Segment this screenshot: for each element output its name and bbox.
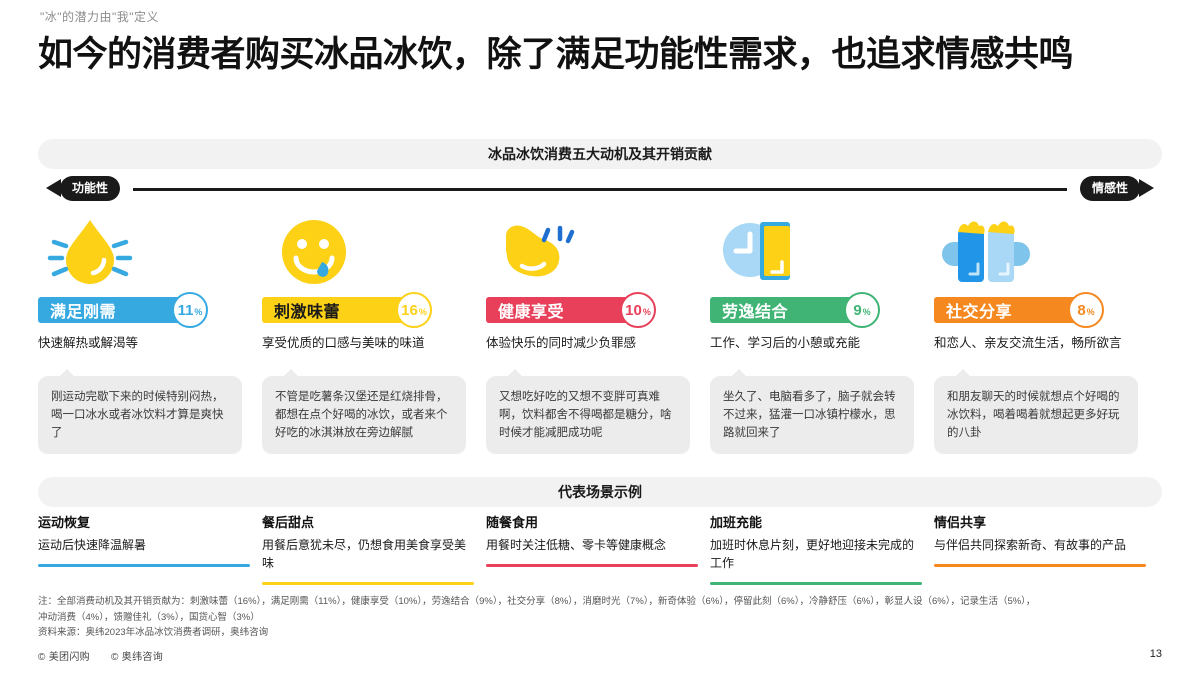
footnote-line-2: 冲动消费（4%），馈赠佳礼（3%），国货心智（3%） xyxy=(38,610,1168,626)
scene-desc-5: 与伴侣共同探索新奇、有故事的产品 xyxy=(934,536,1146,554)
motive-percent-sign-1: % xyxy=(194,295,202,329)
motive-percent-num-5: 8 xyxy=(1077,294,1085,328)
scene-rule-2 xyxy=(262,582,474,585)
clock-can-icon xyxy=(710,208,922,286)
eyebrow-text: "冰"的潜力由"我"定义 xyxy=(40,8,159,25)
motive-quote-4: 坐久了、电脑看多了，脑子就会转不过来，猛灌一口冰镇柠檬水，思路就回来了 xyxy=(710,376,914,454)
spectrum-right-arrow-icon xyxy=(1139,179,1154,197)
scene-rule-3 xyxy=(486,564,698,567)
motive-column-3: 健康享受 10% 体验快乐的同时减少负罪感 又想吃好吃的又想不变胖可真难啊，饮料… xyxy=(486,208,698,352)
motive-bar-row-2: 刺激味蕾 16% xyxy=(262,292,474,326)
footnote-line-1: 注：全部消费动机及其开销贡献为：刺激味蕾（16%），满足刚需（11%），健康享受… xyxy=(38,594,1168,610)
scene-item-4: 加班充能 加班时休息片刻，更好地迎接未完成的工作 xyxy=(710,512,922,585)
motive-desc-2: 享受优质的口感与美味的味道 xyxy=(262,334,474,352)
motive-percent-num-1: 11 xyxy=(178,294,194,328)
spectrum-label-functional: 功能性 xyxy=(60,176,120,201)
motive-bar-row-5: 社交分享 8% xyxy=(934,292,1146,326)
scene-rule-4 xyxy=(710,582,922,585)
slide-root: "冰"的潜力由"我"定义 如今的消费者购买冰品冰饮，除了满足功能性需求，也追求情… xyxy=(0,0,1200,675)
copyright: © 美团闪购 © 奥纬咨询 xyxy=(38,648,181,663)
motive-bar-row-4: 劳逸结合 9% xyxy=(710,292,922,326)
motive-percent-1: 11% xyxy=(172,292,208,328)
scene-item-1: 运动恢复 运动后快速降温解暑 xyxy=(38,512,250,585)
motive-column-4: 劳逸结合 9% 工作、学习后的小憩或充能 坐久了、电脑看多了，脑子就会转不过来，… xyxy=(710,208,922,352)
motive-percent-3: 10% xyxy=(620,292,656,328)
page-number: 13 xyxy=(1150,648,1162,660)
motive-percent-sign-4: % xyxy=(863,295,871,329)
spectrum-left-arrow-icon xyxy=(46,179,61,197)
footnotes: 注：全部消费动机及其开销贡献为：刺激味蕾（16%），满足刚需（11%），健康享受… xyxy=(38,594,1168,641)
page-title: 如今的消费者购买冰品冰饮，除了满足功能性需求，也追求情感共鸣 xyxy=(38,26,1073,77)
scene-desc-2: 用餐后意犹未尽，仍想食用美食享受美味 xyxy=(262,536,474,572)
spectrum-line xyxy=(133,188,1067,191)
motive-desc-4: 工作、学习后的小憩或充能 xyxy=(710,334,922,352)
smiley-taste-icon xyxy=(262,208,474,286)
motive-desc-1: 快速解热或解渴等 xyxy=(38,334,250,352)
copyright-meituan: © 美团闪购 xyxy=(38,652,90,663)
water-drop-icon xyxy=(38,208,250,286)
motive-desc-3: 体验快乐的同时减少负罪感 xyxy=(486,334,698,352)
motive-percent-num-3: 10 xyxy=(625,294,642,328)
motive-quote-3: 又想吃好吃的又想不变胖可真难啊，饮料都舍不得喝都是糖分，啥时候才能减肥成功呢 xyxy=(486,376,690,454)
beer-mugs-icon xyxy=(934,208,1146,286)
motive-column-1: 满足刚需 11% 快速解热或解渴等 刚运动完歇下来的时候特别闷热，喝一口冰水或者… xyxy=(38,208,250,352)
motive-percent-sign-5: % xyxy=(1087,295,1095,329)
scene-desc-4: 加班时休息片刻，更好地迎接未完成的工作 xyxy=(710,536,922,572)
motive-percent-sign-3: % xyxy=(643,295,651,329)
motive-percent-2: 16% xyxy=(396,292,432,328)
motive-percent-num-4: 9 xyxy=(853,294,861,328)
motive-quote-1: 刚运动完歇下来的时候特别闷热，喝一口冰水或者冰饮料才算是爽快了 xyxy=(38,376,242,454)
scene-title-3: 随餐食用 xyxy=(486,512,698,531)
scene-desc-1: 运动后快速降温解暑 xyxy=(38,536,250,554)
scene-item-5: 情侣共享 与伴侣共同探索新奇、有故事的产品 xyxy=(934,512,1146,585)
motive-percent-4: 9% xyxy=(844,292,880,328)
motive-desc-5: 和恋人、亲友交流生活，畅所欲言 xyxy=(934,334,1146,352)
spectrum-axis: 功能性 情感性 xyxy=(38,176,1162,202)
spectrum-label-emotional: 情感性 xyxy=(1080,176,1140,201)
scene-title-1: 运动恢复 xyxy=(38,512,250,531)
scene-rule-5 xyxy=(934,564,1146,567)
scene-section-title: 代表场景示例 xyxy=(38,477,1162,507)
footnote-line-3: 资料来源：奥纬2023年冰品冰饮消费者调研，奥纬咨询 xyxy=(38,625,1168,641)
motive-section-title: 冰品冰饮消费五大动机及其开销贡献 xyxy=(38,139,1162,169)
scene-desc-3: 用餐时关注低糖、零卡等健康概念 xyxy=(486,536,698,554)
scene-item-3: 随餐食用 用餐时关注低糖、零卡等健康概念 xyxy=(486,512,698,585)
scene-columns: 运动恢复 运动后快速降温解暑 餐后甜点 用餐后意犹未尽，仍想食用美食享受美味 随… xyxy=(38,512,1162,585)
muscle-arm-icon xyxy=(486,208,698,286)
motive-quote-5: 和朋友聊天的时候就想点个好喝的冰饮料，喝着喝着就想起更多好玩的八卦 xyxy=(934,376,1138,454)
motive-column-5: 社交分享 8% 和恋人、亲友交流生活，畅所欲言 和朋友聊天的时候就想点个好喝的冰… xyxy=(934,208,1146,352)
scene-rule-1 xyxy=(38,564,250,567)
copyright-oliverwyman: © 奥纬咨询 xyxy=(111,652,163,663)
scene-title-5: 情侣共享 xyxy=(934,512,1146,531)
motive-bar-row-1: 满足刚需 11% xyxy=(38,292,250,326)
motive-percent-5: 8% xyxy=(1068,292,1104,328)
scene-title-4: 加班充能 xyxy=(710,512,922,531)
motive-quote-2: 不管是吃薯条汉堡还是红烧排骨，都想在点个好喝的冰饮，或者来个好吃的冰淇淋放在旁边… xyxy=(262,376,466,454)
scene-item-2: 餐后甜点 用餐后意犹未尽，仍想食用美食享受美味 xyxy=(262,512,474,585)
motive-bar-row-3: 健康享受 10% xyxy=(486,292,698,326)
motive-column-2: 刺激味蕾 16% 享受优质的口感与美味的味道 不管是吃薯条汉堡还是红烧排骨，都想… xyxy=(262,208,474,352)
scene-title-2: 餐后甜点 xyxy=(262,512,474,531)
motive-columns: 满足刚需 11% 快速解热或解渴等 刚运动完歇下来的时候特别闷热，喝一口冰水或者… xyxy=(38,208,1162,352)
motive-percent-sign-2: % xyxy=(419,295,427,329)
motive-percent-num-2: 16 xyxy=(401,294,418,328)
